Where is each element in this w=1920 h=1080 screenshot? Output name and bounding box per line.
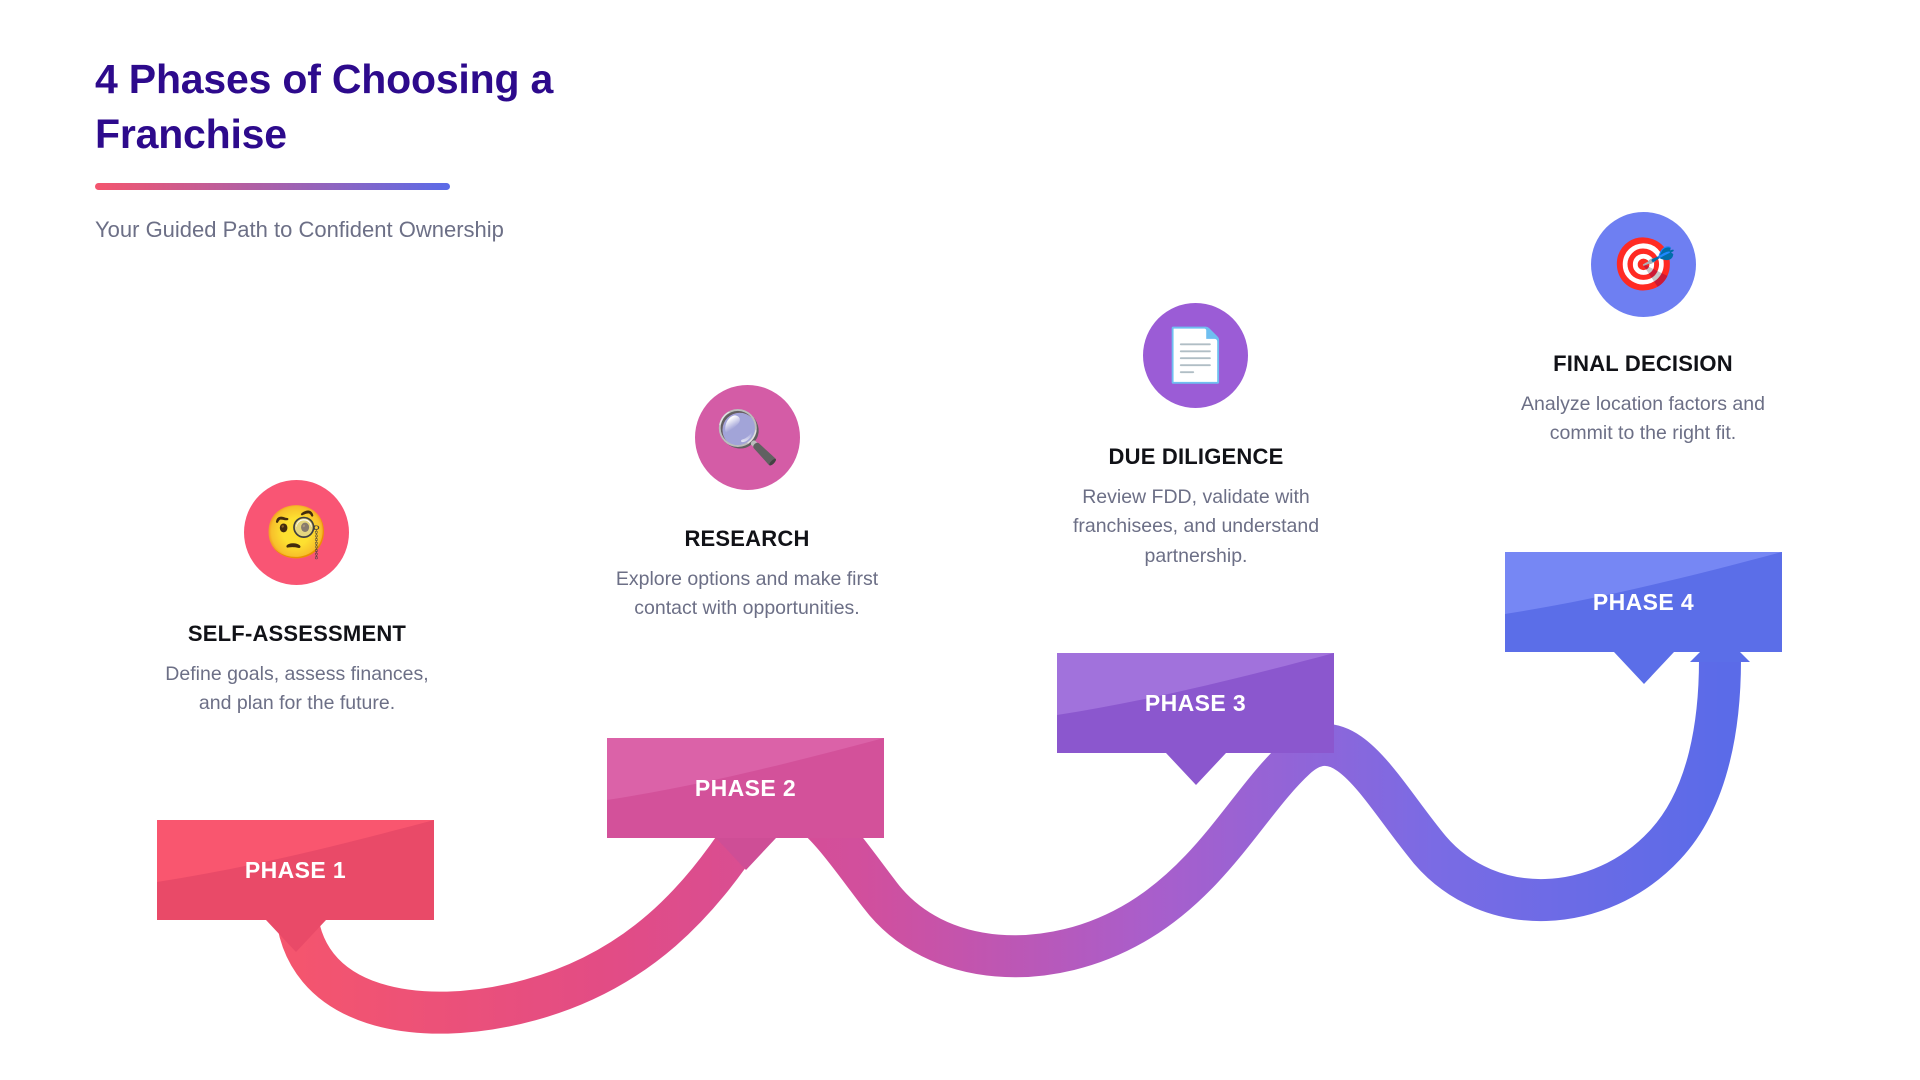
infographic-canvas: 4 Phases of Choosing a Franchise Your Gu… bbox=[0, 0, 1920, 1080]
phase-3-banner[interactable]: PHASE 3 bbox=[1057, 653, 1334, 753]
phase-4-banner-label: PHASE 4 bbox=[1505, 552, 1782, 652]
magnifying-glass-icon: 🔍 bbox=[715, 412, 780, 464]
header-block: 4 Phases of Choosing a Franchise Your Gu… bbox=[95, 52, 735, 245]
phase-4-description: Analyze location factors and commit to t… bbox=[1498, 390, 1788, 449]
title-divider-rule bbox=[95, 183, 450, 190]
phase-1-banner-label: PHASE 1 bbox=[157, 820, 434, 920]
page-title: 4 Phases of Choosing a Franchise bbox=[95, 52, 605, 161]
phase-1-heading: SELF-ASSESSMENT bbox=[152, 620, 442, 648]
phase-1-banner[interactable]: PHASE 1 bbox=[157, 820, 434, 920]
phase-3-banner-label: PHASE 3 bbox=[1057, 653, 1334, 753]
monocle-face-icon: 🧐 bbox=[264, 507, 329, 559]
phase-1-text-block: SELF-ASSESSMENT Define goals, assess fin… bbox=[152, 620, 442, 719]
phase-3-heading: DUE DILIGENCE bbox=[1051, 443, 1341, 471]
phase-4-banner[interactable]: PHASE 4 bbox=[1505, 552, 1782, 652]
dart-target-icon: 🎯 bbox=[1611, 239, 1676, 291]
phase-2-heading: RESEARCH bbox=[602, 525, 892, 553]
phase-3-text-block: DUE DILIGENCE Review FDD, validate with … bbox=[1051, 443, 1341, 571]
phase-2-icon-circle: 🔍 bbox=[695, 385, 800, 490]
phase-1-icon-circle: 🧐 bbox=[244, 480, 349, 585]
phase-1-description: Define goals, assess finances, and plan … bbox=[152, 660, 442, 719]
phase-4-icon-circle: 🎯 bbox=[1591, 212, 1696, 317]
phase-3-description: Review FDD, validate with franchisees, a… bbox=[1051, 483, 1341, 572]
phase-3-icon-circle: 📄 bbox=[1143, 303, 1248, 408]
phase-2-description: Explore options and make first contact w… bbox=[602, 565, 892, 624]
page-subtitle: Your Guided Path to Confident Ownership bbox=[95, 216, 735, 245]
document-page-icon: 📄 bbox=[1163, 330, 1228, 382]
phase-4-heading: FINAL DECISION bbox=[1498, 350, 1788, 378]
phase-4-text-block: FINAL DECISION Analyze location factors … bbox=[1498, 350, 1788, 449]
phase-2-text-block: RESEARCH Explore options and make first … bbox=[602, 525, 892, 624]
phase-2-banner[interactable]: PHASE 2 bbox=[607, 738, 884, 838]
phase-2-banner-label: PHASE 2 bbox=[607, 738, 884, 838]
